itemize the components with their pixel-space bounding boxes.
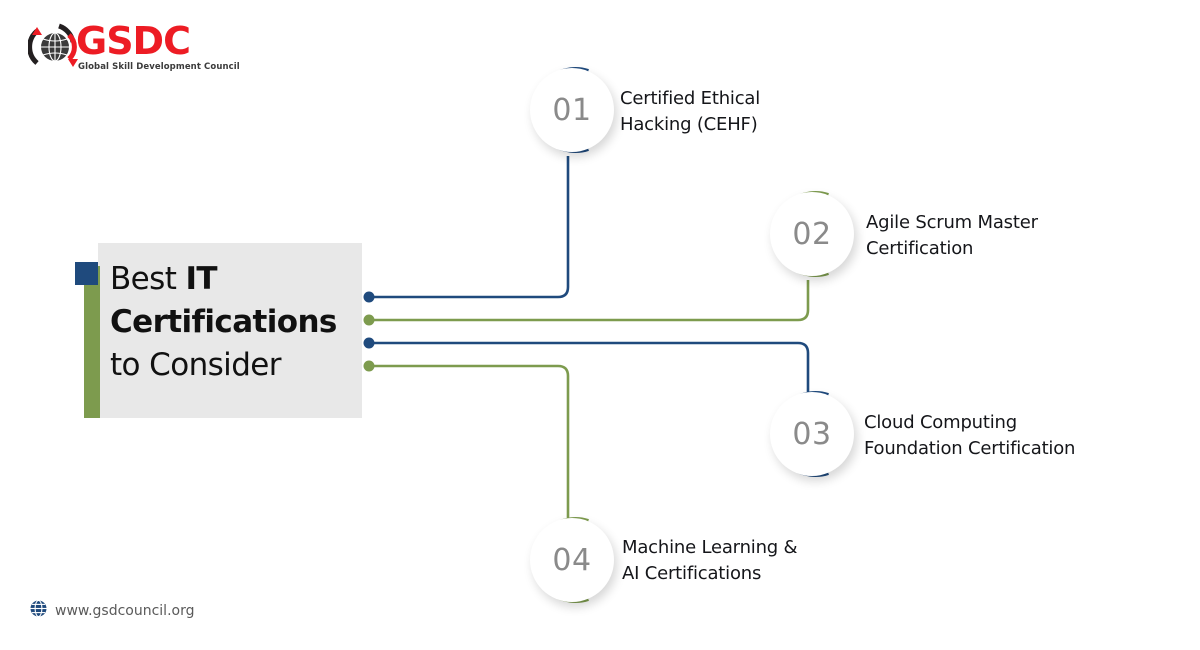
connector-dot-1 (364, 292, 375, 303)
connector-dot-3 (364, 338, 375, 349)
node-number-04: 04 (552, 543, 591, 578)
node-disc-03: 03 (770, 392, 854, 476)
step-label-04-line2: AI Certifications (622, 561, 797, 587)
node-disc-04: 04 (530, 518, 614, 602)
step-label-04: Machine Learning & AI Certifications (622, 535, 797, 587)
step-label-03: Cloud Computing Foundation Certification (864, 410, 1075, 462)
step-label-03-line2: Foundation Certification (864, 436, 1075, 462)
step-label-04-line1: Machine Learning & (622, 535, 797, 561)
step-label-03-line1: Cloud Computing (864, 410, 1075, 436)
node-number-01: 01 (552, 93, 591, 128)
step-label-01-line1: Certified Ethical (620, 86, 760, 112)
connector-dot-4 (364, 361, 375, 372)
connector-line-2 (368, 280, 808, 320)
step-node-02[interactable]: 02 (762, 188, 854, 280)
step-node-01[interactable]: 01 (522, 64, 614, 156)
node-disc-01: 01 (530, 68, 614, 152)
step-label-01: Certified Ethical Hacking (CEHF) (620, 86, 760, 138)
footer-url[interactable]: www.gsdcouncil.org (55, 603, 194, 619)
node-disc-02: 02 (770, 192, 854, 276)
step-label-01-line2: Hacking (CEHF) (620, 112, 760, 138)
connector-line-4 (368, 366, 568, 518)
step-label-02-line1: Agile Scrum Master (866, 210, 1038, 236)
step-node-04[interactable]: 04 (522, 514, 614, 606)
step-label-02: Agile Scrum Master Certification (866, 210, 1038, 262)
node-number-02: 02 (792, 217, 831, 252)
node-number-03: 03 (792, 417, 831, 452)
globe-icon (30, 600, 47, 622)
connector-line-3 (368, 343, 808, 392)
infographic-canvas: GSDC Global Skill Development Council Be… (0, 0, 1200, 650)
step-label-02-line2: Certification (866, 236, 1038, 262)
connector-dot-2 (364, 315, 375, 326)
footer: www.gsdcouncil.org (30, 598, 194, 624)
connector-line-1 (368, 156, 568, 297)
step-node-03[interactable]: 03 (762, 388, 854, 480)
